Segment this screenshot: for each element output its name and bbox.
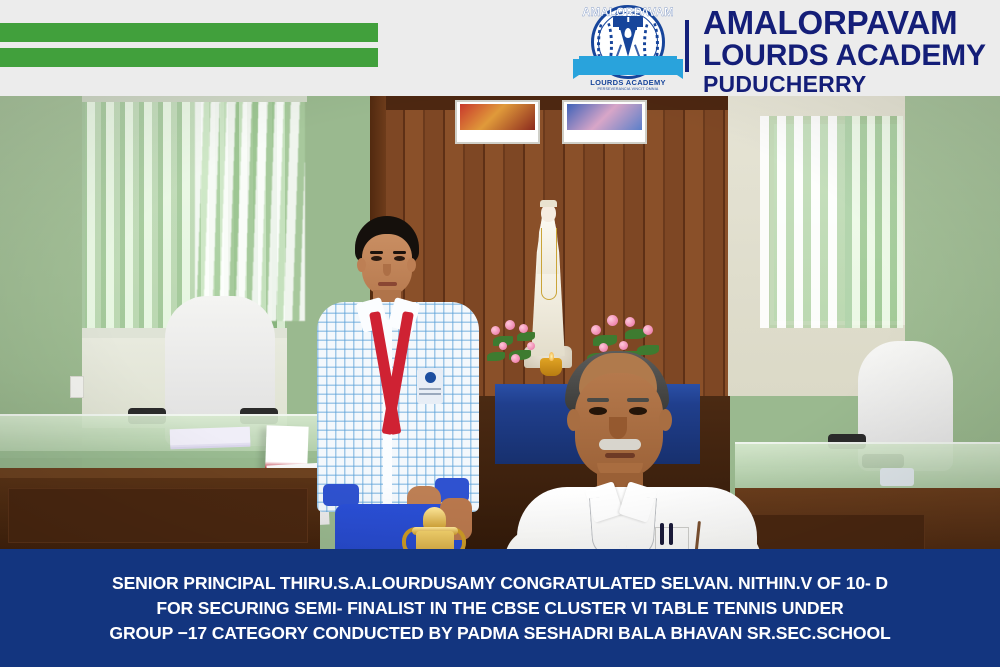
student-eyebrow-right bbox=[393, 251, 406, 254]
student-nose bbox=[383, 264, 391, 276]
logo-subtitle-academy: LOURDS ACADEMY bbox=[573, 78, 683, 87]
desk-left-front-panel bbox=[8, 488, 308, 543]
student-eye-right bbox=[394, 256, 405, 261]
wall-socket bbox=[70, 376, 84, 398]
page-header: AVE MARIA AMALORPAVAM LOURDS ACADEMY PER… bbox=[0, 0, 1000, 96]
crucifix-chain-right bbox=[619, 496, 657, 549]
student-cuff-left bbox=[323, 484, 359, 506]
picture-art-left bbox=[460, 104, 535, 130]
caption-line-1: SENIOR PRINCIPAL THIRU.S.A.LOURDUSAMY CO… bbox=[112, 572, 888, 594]
student-mouth bbox=[378, 282, 397, 286]
caption-line-2: FOR SECURING SEMI- FINALIST IN THE CBSE … bbox=[156, 597, 843, 619]
principal-eyebrow-left bbox=[587, 398, 609, 402]
picture-caption-left bbox=[460, 132, 535, 137]
wood-panel-top-trim bbox=[383, 96, 728, 110]
flame-drop-icon bbox=[625, 28, 632, 38]
curtain-right-sheer bbox=[760, 116, 852, 328]
student-ear-right bbox=[407, 258, 416, 272]
badge-logo-icon bbox=[425, 372, 436, 383]
rosary-icon bbox=[541, 228, 557, 300]
framed-picture-left bbox=[455, 100, 540, 144]
curtain-left-sheer bbox=[195, 96, 305, 321]
desk-pad bbox=[880, 468, 914, 486]
principal-eyebrow-right bbox=[627, 398, 649, 402]
student-eyebrow-left bbox=[370, 251, 383, 254]
green-accent-bar-top bbox=[0, 23, 378, 42]
green-accent-bar-bottom bbox=[0, 48, 378, 67]
principal-nose bbox=[609, 417, 627, 439]
principal-figure bbox=[505, 351, 835, 549]
curtain-right bbox=[845, 116, 903, 328]
desk-left-top-edge bbox=[0, 468, 320, 478]
principal-eye-left bbox=[589, 407, 607, 415]
school-name-line-2: LOURDS ACADEMY bbox=[703, 40, 986, 71]
principal-arm-left bbox=[505, 529, 575, 549]
student-eye-left bbox=[371, 256, 382, 261]
student-figure bbox=[295, 216, 495, 549]
picture-caption-right bbox=[567, 132, 642, 137]
logo-ribbon-label: AMALORPAVAM bbox=[573, 7, 683, 19]
badge-text-line-2 bbox=[419, 393, 441, 395]
paper-stack bbox=[170, 427, 251, 446]
school-logo: AVE MARIA AMALORPAVAM LOURDS ACADEMY PER… bbox=[573, 4, 683, 94]
school-name-block: AMALORPAVAM LOURDS ACADEMY PUDUCHERRY bbox=[703, 6, 986, 96]
marian-statue-crown bbox=[540, 200, 557, 207]
picture-art-right bbox=[567, 104, 642, 130]
caption-banner: SENIOR PRINCIPAL THIRU.S.A.LOURDUSAMY CO… bbox=[0, 549, 1000, 667]
pen-icon-1 bbox=[660, 523, 664, 545]
header-divider bbox=[685, 20, 689, 72]
school-location: PUDUCHERRY bbox=[703, 71, 986, 96]
school-name-line-1: AMALORPAVAM bbox=[703, 6, 986, 40]
principal-ear-left bbox=[567, 409, 580, 431]
student-ear-left bbox=[357, 258, 366, 272]
principal-moustache bbox=[599, 439, 641, 450]
pen-icon-2 bbox=[669, 523, 673, 545]
logo-motto: PERSEVERANCIA VINCIT OMNIA bbox=[573, 87, 683, 91]
event-photo bbox=[0, 96, 1000, 549]
curtain-rod-left bbox=[82, 96, 307, 102]
photo-scene bbox=[0, 96, 1000, 549]
trophy bbox=[400, 501, 468, 549]
principal-ear-right bbox=[659, 409, 672, 431]
framed-picture-right bbox=[562, 100, 647, 144]
caption-line-3: GROUP −17 CATEGORY CONDUCTED BY PADMA SE… bbox=[109, 622, 890, 644]
principal-eye-right bbox=[629, 407, 647, 415]
trophy-cup bbox=[416, 531, 454, 549]
badge-text-line-1 bbox=[419, 388, 441, 390]
principal-mouth bbox=[605, 453, 635, 458]
